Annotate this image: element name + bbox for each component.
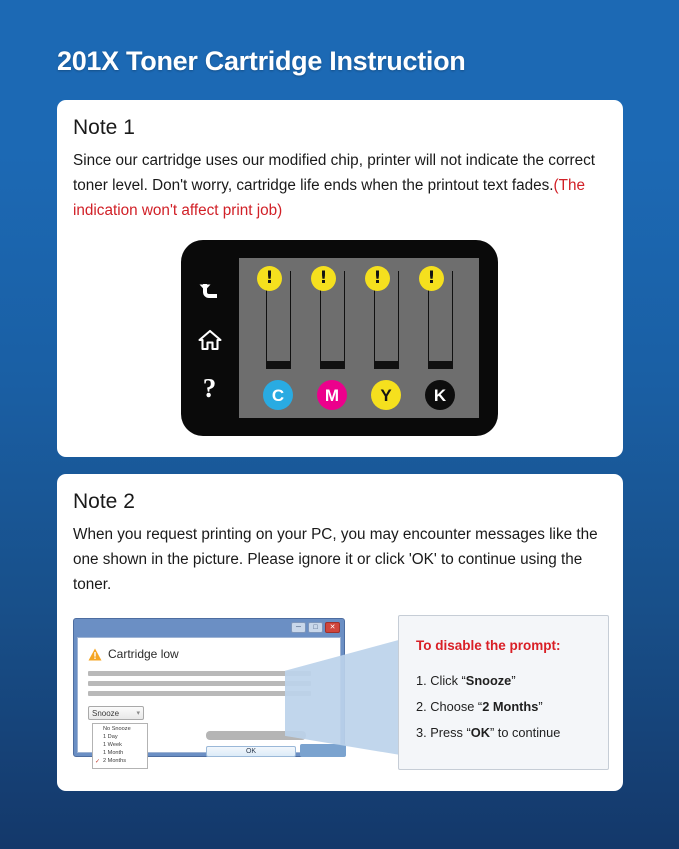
minimize-icon[interactable]: ─ [291, 622, 306, 633]
note-1-heading: Note 1 [73, 116, 135, 140]
callout-step-post: ” to continue [490, 725, 560, 740]
note-2-heading: Note 2 [73, 490, 135, 514]
warning-icon-yellow: ! [365, 266, 390, 291]
list-item[interactable]: 1 Month [93, 750, 147, 758]
list-item-label: 1 Month [103, 751, 123, 757]
callout-steps: 1. Click “Snooze” 2. Choose “2 Months” 3… [416, 668, 560, 746]
toner-gauge-yellow: ! Y [365, 266, 407, 410]
ok-button[interactable]: OK [206, 746, 296, 757]
callout-step-bold: 2 Months [482, 699, 538, 714]
placeholder-text-bar [88, 691, 311, 696]
printer-panel-sidebar: ? [181, 240, 238, 436]
toner-label-magenta: M [317, 380, 347, 410]
printer-panel-illustration: ? ! C ! M [181, 240, 498, 436]
list-item[interactable]: 1 Day [93, 734, 147, 742]
page-title: 201X Toner Cartridge Instruction [57, 46, 465, 77]
snooze-options-list[interactable]: No Snooze 1 Day 1 Week 1 Month [92, 723, 148, 769]
note-2-body: When you request printing on your PC, yo… [73, 522, 609, 597]
list-item-label: 1 Day [103, 735, 118, 741]
callout-step: 1. Click “Snooze” [416, 668, 560, 694]
list-item[interactable]: No Snooze [93, 726, 147, 734]
callout-step-post: ” [538, 699, 542, 714]
window-controls: ─ □ ✕ [291, 622, 340, 633]
back-arrow-icon[interactable] [197, 279, 223, 305]
toner-fill-magenta [321, 361, 344, 368]
list-item-label: 1 Week [103, 743, 122, 749]
maximize-icon[interactable]: □ [308, 622, 323, 633]
callout-step-bold: OK [471, 725, 490, 740]
snooze-dropdown-button[interactable]: Snooze ▾ [88, 706, 144, 720]
toner-gauge-magenta: ! M [311, 266, 353, 410]
check-icon: ✓ [95, 759, 103, 765]
list-item-label: No Snooze [103, 727, 131, 733]
toner-fill-black [429, 361, 452, 368]
toner-gauge-cyan: ! C [257, 266, 299, 410]
toner-fill-yellow [375, 361, 398, 368]
warning-icon-cyan: ! [257, 266, 282, 291]
toner-gauge-black: ! K [419, 266, 461, 410]
callout-step-number: 2. [416, 699, 427, 714]
callout-step-pre: Click “ [430, 673, 466, 688]
callout-step-bold: Snooze [466, 673, 512, 688]
toner-label-cyan: C [263, 380, 293, 410]
warning-icon-black: ! [419, 266, 444, 291]
placeholder-text-bar [88, 671, 311, 676]
dialog-title-text: Cartridge low [108, 647, 179, 661]
placeholder-button-bar [300, 744, 346, 757]
list-item[interactable]: 1 Week [93, 742, 147, 750]
callout-box: To disable the prompt: 1. Click “Snooze”… [398, 615, 609, 770]
help-icon[interactable]: ? [197, 375, 223, 401]
callout-step-number: 3. [416, 725, 427, 740]
warning-triangle-icon [88, 648, 102, 661]
home-icon[interactable] [197, 327, 223, 353]
callout-step-pre: Press “ [430, 725, 471, 740]
callout-step-post: ” [511, 673, 515, 688]
placeholder-text-bar [88, 681, 311, 686]
note-1-card: Note 1 Since our cartridge uses our modi… [57, 100, 623, 457]
list-item-selected[interactable]: ✓ 2 Months [93, 758, 147, 766]
dialog-header: Cartridge low [88, 647, 179, 661]
callout-step-number: 1. [416, 673, 427, 688]
note-2-card: Note 2 When you request printing on your… [57, 474, 623, 791]
warning-icon-magenta: ! [311, 266, 336, 291]
toner-label-black: K [425, 380, 455, 410]
snooze-dropdown-label: Snooze [92, 709, 119, 718]
callout-title: To disable the prompt: [416, 638, 561, 653]
dialog-illustration: ─ □ ✕ Cartridge low [73, 615, 609, 770]
chevron-down-icon: ▾ [122, 709, 140, 717]
toner-level-row: ! C ! M ! Y [239, 258, 479, 418]
callout-step: 2. Choose “2 Months” [416, 694, 560, 720]
close-icon[interactable]: ✕ [325, 622, 340, 633]
help-icon-glyph: ? [203, 375, 217, 402]
callout-step: 3. Press “OK” to continue [416, 720, 560, 746]
list-item-label: 2 Months [103, 759, 126, 765]
note-1-body: Since our cartridge uses our modified ch… [73, 148, 609, 223]
dialog-titlebar: ─ □ ✕ [77, 622, 341, 637]
printer-panel-screen: ! C ! M ! Y [239, 258, 479, 418]
note-1-body-text: Since our cartridge uses our modified ch… [73, 152, 595, 194]
toner-fill-cyan [267, 361, 290, 368]
callout-step-pre: Choose “ [430, 699, 482, 714]
toner-label-yellow: Y [371, 380, 401, 410]
